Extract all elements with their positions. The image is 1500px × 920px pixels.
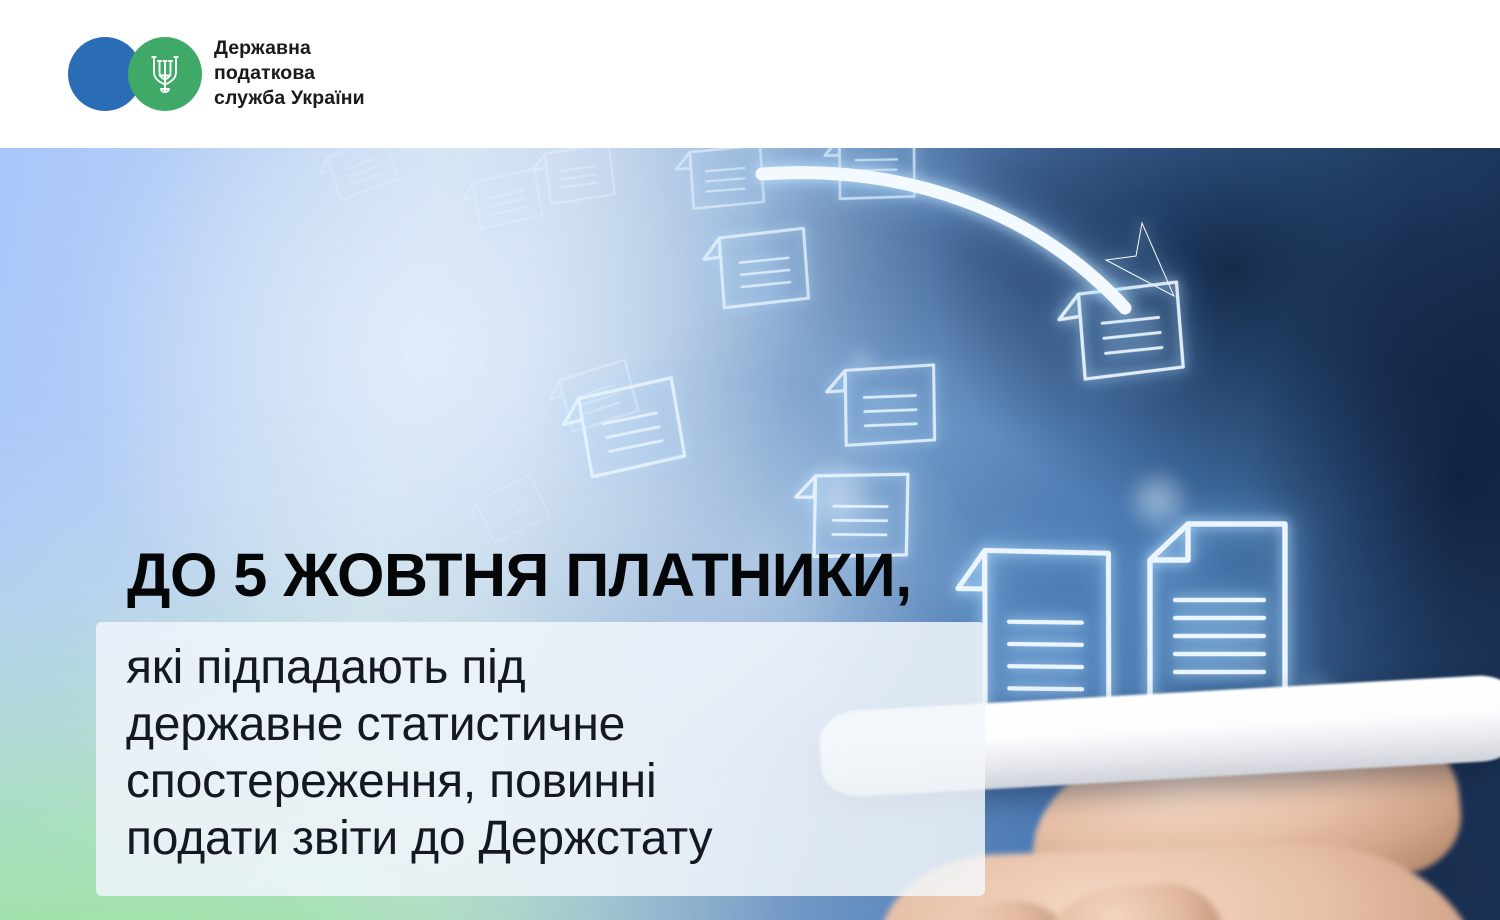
green-circle-icon — [128, 37, 202, 111]
body-line-3: спостереження, повинні — [126, 753, 1006, 810]
agency-name-line-1: Державна — [214, 36, 365, 61]
agency-logo[interactable]: Державна податкова служба України — [68, 36, 365, 111]
body-line-2: державне статистичне — [126, 696, 1006, 753]
agency-name: Державна податкова служба України — [214, 36, 365, 111]
header-bar: Державна податкова служба України — [0, 0, 1500, 148]
banner: ДО 5 ЖОВТНЯ ПЛАТНИКИ, які підпадають під… — [0, 148, 1500, 920]
agency-name-line-3: служба України — [214, 86, 365, 111]
body-line-1: які підпадають під — [126, 639, 1006, 696]
logo-marks — [68, 37, 202, 111]
ukraine-trident-icon — [148, 52, 182, 96]
poster-canvas: Державна податкова служба України — [0, 0, 1500, 920]
headline: ДО 5 ЖОВТНЯ ПЛАТНИКИ, — [127, 542, 912, 608]
body-line-4: подати звіти до Держстату — [126, 810, 1006, 867]
agency-name-line-2: податкова — [214, 61, 365, 86]
body-copy: які підпадають під державне статистичне … — [126, 639, 1006, 867]
